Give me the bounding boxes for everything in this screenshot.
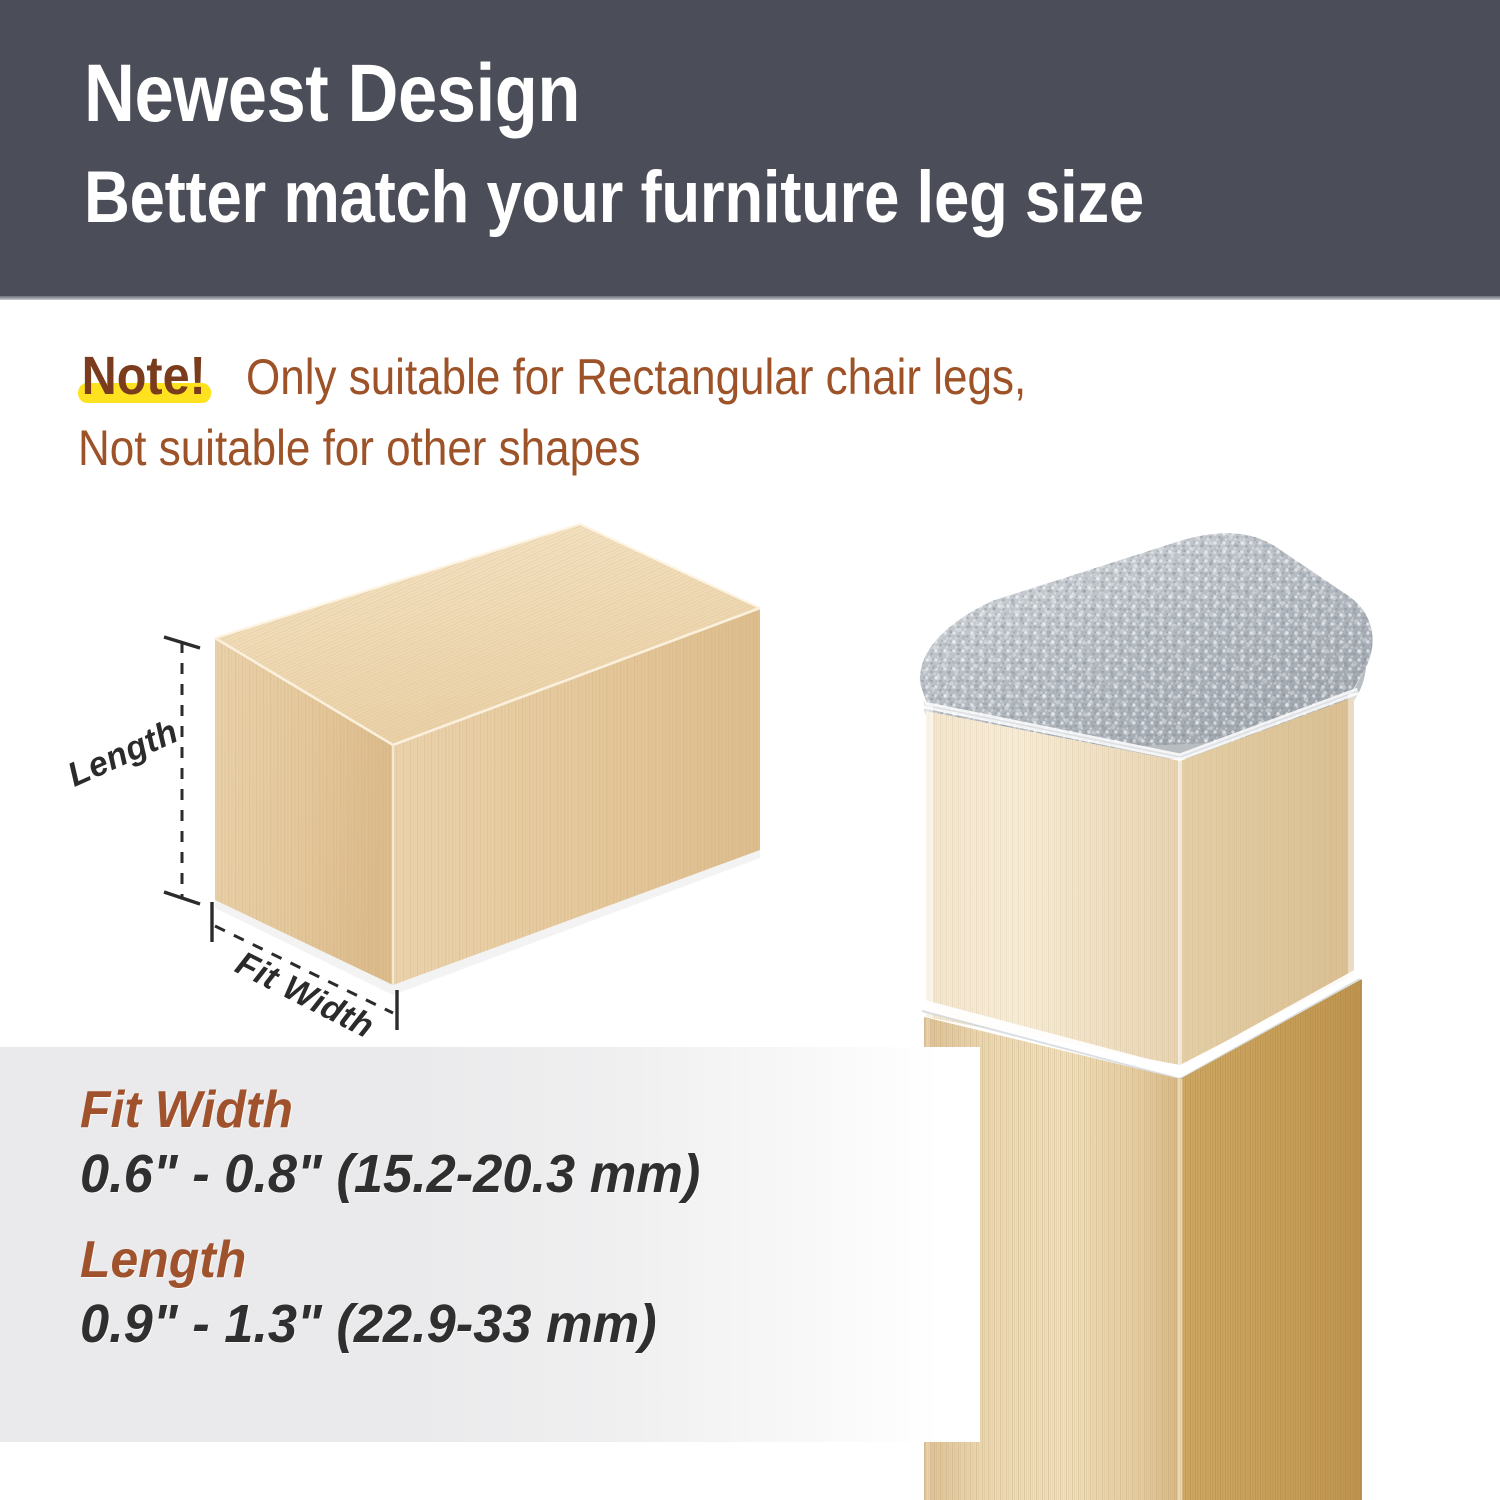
page-title: Newest Design	[84, 52, 580, 136]
wood-block-illustration	[60, 490, 860, 1050]
header-banner: Newest Design Better match your furnitur…	[0, 0, 1500, 300]
spec-label-fit-width: Fit Width	[80, 1079, 694, 1141]
spec-value-length: 0.9" - 1.3" (22.9-33 mm)	[80, 1291, 700, 1357]
note-line-1: Note! Only suitable for Rectangular chai…	[78, 345, 1418, 407]
note-text-line-1: Only suitable for Rectangular chair legs…	[246, 346, 1026, 408]
size-spec-panel: Fit Width 0.6" - 0.8" (15.2-20.3 mm) Len…	[0, 1047, 980, 1442]
spec-label-length: Length	[80, 1229, 694, 1291]
product-infographic: Newest Design Better match your furnitur…	[0, 0, 1500, 1500]
note-block: Note! Only suitable for Rectangular chai…	[78, 345, 1418, 479]
spec-value-fit-width: 0.6" - 0.8" (15.2-20.3 mm)	[80, 1141, 700, 1207]
note-badge-label: Note!	[82, 346, 206, 406]
note-text-line-2: Not suitable for other shapes	[78, 417, 1257, 479]
note-badge: Note!	[78, 345, 211, 407]
leg-dimension-diagram: Length Fit Width	[60, 490, 860, 1050]
page-subtitle: Better match your furniture leg size	[84, 160, 1144, 236]
